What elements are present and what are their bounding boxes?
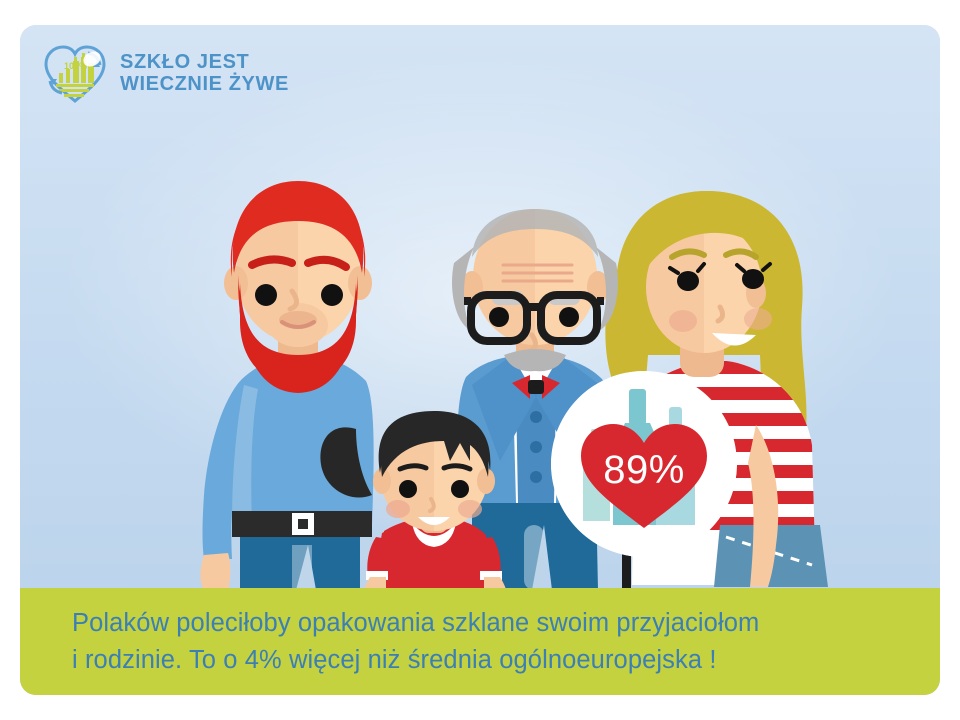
caption-line-2: i rodzinie. To o 4% więcej niż średnia o…	[72, 642, 888, 678]
infographic-stage: 89% 100%	[0, 0, 960, 720]
family-group-illustration	[20, 25, 940, 590]
brand-title: SZKŁO JEST WIECZNIE ŻYWE	[120, 52, 289, 95]
brand-logo: 100% SZKŁO JEST WIECZNIE ŻYWE	[42, 43, 289, 105]
recycling-heart-glass-logo: 100%	[42, 43, 108, 105]
brand-title-line2: WIECZNIE ŻYWE	[120, 74, 289, 96]
figure-bearded-man	[200, 181, 373, 590]
caption-line-1: Polaków poleciłoby opakowania szklane sw…	[72, 605, 888, 641]
statistic-caption: Polaków poleciłoby opakowania szklane sw…	[20, 588, 940, 695]
statistic-badge: 89%	[551, 371, 737, 557]
brand-title-line1: SZKŁO JEST	[120, 52, 289, 74]
infographic-card: 89% 100%	[20, 25, 940, 695]
logo-inner-label: 100%	[64, 61, 87, 71]
